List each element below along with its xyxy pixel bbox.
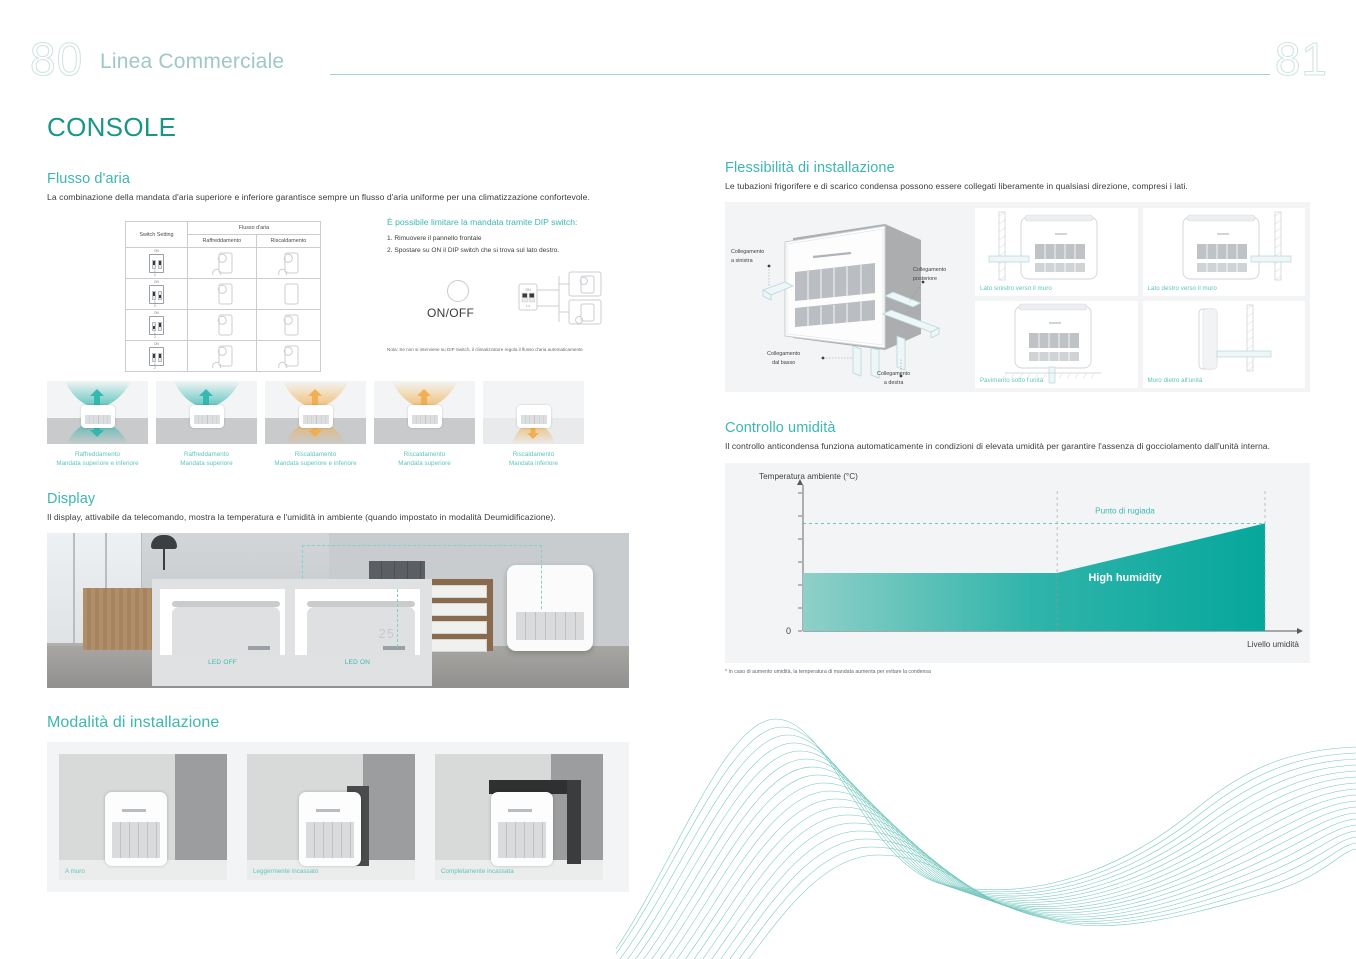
th-cooling: Raffreddamento	[187, 235, 256, 248]
install-mode-image: Leggermente incassato	[247, 754, 415, 880]
cool-cell	[187, 341, 256, 372]
connection-label-right: Collegamento a destra	[877, 370, 910, 386]
airflow-top-icon	[209, 313, 235, 337]
airflow-card-detail: Mandata inferiore	[483, 460, 584, 469]
th-airflow-group: Flusso d'aria	[187, 222, 320, 235]
connection-label-right-line1: Collegamento	[877, 371, 910, 377]
unit-illustration	[190, 405, 224, 428]
flexibility-card-label: Muro dietro all'unità	[1148, 377, 1203, 384]
heat-cell	[256, 310, 320, 341]
airflow-card: Raffreddamento Mandata superiore	[156, 381, 257, 469]
cool-cell	[187, 248, 256, 279]
connection-label-bottom: Collegamento dal basso	[767, 350, 800, 366]
flexibility-card-label: Pavimento sotto l'unità	[980, 377, 1043, 384]
dip-cell: ON 1 2	[126, 341, 188, 372]
table-row: ON 1 2	[126, 310, 321, 341]
unit-illustration	[517, 405, 551, 428]
humidity-chart-panel: Temperatura ambiente (°C)0Livello umidit…	[725, 463, 1310, 663]
dip-cell: ON 1 2	[126, 279, 188, 310]
svg-text:High humidity: High humidity	[1088, 572, 1162, 584]
page-number-left: 80	[30, 32, 83, 86]
dip-nums-label: 1 2	[150, 362, 163, 370]
section-body-humidity: Il controllo anticondensa funziona autom…	[725, 440, 1297, 452]
svg-text:Temperatura ambiente (°C): Temperatura ambiente (°C)	[759, 472, 858, 481]
onoff-diagram: ON/OFF ON 1 2	[387, 270, 627, 332]
airflow-top-icon	[275, 313, 301, 337]
section-body-display: Il display, attivabile da telecomando, m…	[47, 511, 627, 523]
install-mode-label: Leggermente incassato	[253, 868, 318, 875]
humidity-chart-footnote: * In caso di aumento umidità, la tempera…	[725, 669, 1310, 677]
heat-cell	[256, 248, 320, 279]
flexibility-card: Muro dietro all'unità	[1143, 301, 1306, 389]
airflow-table-block: Switch Setting Flusso d'aria Raffreddame…	[47, 217, 632, 367]
onoff-circle-icon	[447, 280, 469, 302]
airflow-card-list: Raffreddamento Mandata superiore e infer…	[47, 381, 632, 469]
page-number-right: 81	[1275, 32, 1328, 86]
led-value: 25	[379, 626, 395, 641]
airflow-card-mode: Riscaldamento	[265, 451, 366, 460]
airflow-card: Riscaldamento Mandata superiore e inferi…	[265, 381, 366, 469]
airflow-top-icon	[209, 282, 235, 306]
flexibility-diagram-panel: Collegamento a sinistra Collegamento pos…	[725, 202, 1310, 392]
airflow-card: Riscaldamento Mandata superiore	[374, 381, 475, 469]
unit-illustration	[81, 405, 115, 428]
airflow-both-icon	[209, 344, 235, 368]
install-mode-label: Completamente incassata	[441, 868, 514, 875]
install-mode-card: A muro	[59, 754, 227, 880]
switch-setting-table: Switch Setting Flusso d'aria Raffreddame…	[125, 221, 321, 372]
humidity-chart: Temperatura ambiente (°C)0Livello umidit…	[725, 463, 1310, 663]
dip-on-label: ON	[150, 342, 163, 346]
airflow-card-mode: Riscaldamento	[483, 451, 584, 460]
page-header: 80 Linea Commerciale 81	[0, 18, 1356, 78]
dip-switch-icon: ON 1 2	[149, 347, 164, 366]
header-rule	[330, 74, 1270, 75]
led-off-image	[160, 589, 285, 655]
table-row: ON 1 2	[126, 248, 321, 279]
connection-label-bottom-line1: Collegamento	[767, 351, 800, 357]
airflow-card-image	[374, 381, 475, 444]
unit-illustration	[299, 405, 333, 428]
section-heading-humidity: Controllo umidità	[725, 420, 1310, 436]
th-switch-setting: Switch Setting	[126, 222, 188, 248]
display-comparison-panel: LED OFF 25 LED ON	[152, 579, 432, 686]
dip-note-text: Nota: Se non si interviene su DIP Switch…	[387, 346, 627, 354]
dip-on-label: ON	[150, 311, 163, 315]
connection-label-left: Collegamento a sinistra	[731, 248, 764, 264]
airflow-card-mode: Raffreddamento	[156, 451, 257, 460]
display-photo: LED OFF 25 LED ON	[47, 533, 629, 688]
connection-label-bottom-line2: dal basso	[772, 360, 795, 366]
connection-label-back-line2: posteriore	[913, 276, 937, 282]
dip-instructions-title: È possibile limitare la mandata tramite …	[387, 217, 627, 227]
install-mode-card: Leggermente incassato	[247, 754, 415, 880]
section-heading-airflow: Flusso d'aria	[47, 171, 632, 187]
cool-cell	[187, 310, 256, 341]
airflow-card-detail: Mandata superiore e inferiore	[265, 460, 366, 469]
svg-text:ON: ON	[525, 288, 531, 292]
flexibility-card: Pavimento sotto l'unità	[975, 301, 1138, 389]
callout-dashed-vertical	[397, 589, 398, 647]
catalog-page: 80 Linea Commerciale 81 CONSOLE Flusso d…	[0, 0, 1356, 959]
section-heading-install: Modalità di installazione	[47, 714, 632, 732]
onoff-label: ON/OFF	[427, 306, 474, 320]
svg-text:Punto di rugiada: Punto di rugiada	[1095, 506, 1155, 515]
led-on-image: 25	[295, 589, 420, 655]
decorative-wave-graphic	[616, 659, 1356, 959]
flexibility-card: Lato sinistro verso il muro	[975, 208, 1138, 296]
dip-switch-icon: ON 1 2	[149, 316, 164, 335]
dip-step-1: 1. Rimuovere il pannello frontale	[387, 233, 627, 244]
airflow-both-icon	[275, 344, 301, 368]
dip-cell: ON 1 2	[126, 248, 188, 279]
airflow-card: Riscaldamento Mandata inferiore	[483, 381, 584, 469]
section-body-flexibility: Le tubazioni frigorifere e di scarico co…	[725, 180, 1305, 192]
led-off-label: LED OFF	[160, 659, 285, 666]
led-on-label: LED ON	[295, 659, 420, 666]
onoff-schematic: ON 1 2	[497, 270, 617, 328]
airflow-card-image	[483, 381, 584, 444]
flexibility-card-grid: Lato sinistro verso il muro	[975, 208, 1305, 388]
airflow-card-image	[156, 381, 257, 444]
airflow-card-detail: Mandata superiore	[374, 460, 475, 469]
connection-label-back-line1: Collegamento	[913, 267, 946, 273]
install-mode-image: Completamente incassata	[435, 754, 603, 880]
airflow-card: Raffreddamento Mandata superiore e infer…	[47, 381, 148, 469]
dip-nums-label: 1 2	[150, 331, 163, 339]
install-mode-card: Completamente incassata	[435, 754, 603, 880]
flexibility-card-label: Lato destro verso il muro	[1148, 285, 1217, 292]
dip-switch-icon: ON 1 2	[149, 254, 164, 273]
airflow-card-detail: Mandata superiore e inferiore	[47, 460, 148, 469]
dip-nums-label: 1 2	[150, 269, 163, 277]
dip-nums-label: 1 2	[150, 300, 163, 308]
header-title: Linea Commerciale	[100, 50, 284, 74]
section-heading-flexibility: Flessibilità di installazione	[725, 160, 1310, 176]
desk-lamp	[151, 535, 177, 549]
section-heading-display: Display	[47, 491, 632, 507]
install-mode-list: A muro Leggermente incassato	[47, 742, 629, 892]
flexibility-card: Lato destro verso il muro	[1143, 208, 1306, 296]
unit-illustration	[408, 405, 442, 428]
airflow-both-icon	[209, 251, 235, 275]
airflow-none-icon	[275, 282, 301, 306]
section-body-airflow: La combinazione della mandata d'aria sup…	[47, 191, 627, 203]
connection-label-right-line2: a destra	[884, 380, 903, 386]
airflow-card-image	[265, 381, 366, 444]
dip-switch-icon: ON 1 2	[149, 285, 164, 304]
th-heating: Riscaldamento	[256, 235, 320, 248]
heat-cell	[256, 341, 320, 372]
airflow-card-image	[47, 381, 148, 444]
table-row: ON 1 2	[126, 341, 321, 372]
connection-label-left-line2: a sinistra	[731, 258, 753, 264]
airflow-card-mode: Raffreddamento	[47, 451, 148, 460]
dip-step-2: 2. Spostare su ON il DIP switch che si t…	[387, 245, 627, 256]
flexibility-card-label: Lato sinistro verso il muro	[980, 285, 1052, 292]
left-column: CONSOLE Flusso d'aria La combinazione de…	[47, 112, 632, 892]
connection-diagram: Collegamento a sinistra Collegamento pos…	[735, 210, 970, 385]
airflow-card-detail: Mandata superiore	[156, 460, 257, 469]
table-row: ON 1 2	[126, 279, 321, 310]
svg-text:0: 0	[786, 626, 791, 636]
cool-cell	[187, 279, 256, 310]
svg-text:Livello umidità: Livello umidità	[1247, 640, 1299, 649]
dip-on-label: ON	[150, 249, 163, 253]
connection-label-left-line1: Collegamento	[731, 249, 764, 255]
install-mode-image: A muro	[59, 754, 227, 880]
dip-cell: ON 1 2	[126, 310, 188, 341]
connection-label-back: Collegamento posteriore	[913, 266, 946, 282]
airflow-both-icon	[275, 251, 301, 275]
airflow-card-mode: Riscaldamento	[374, 451, 475, 460]
heat-cell	[256, 279, 320, 310]
dip-on-label: ON	[150, 280, 163, 284]
install-mode-label: A muro	[65, 868, 85, 875]
svg-text:1 2: 1 2	[526, 304, 531, 308]
dip-instructions: È possibile limitare la mandata tramite …	[387, 217, 627, 353]
right-column: Flessibilità di installazione Le tubazio…	[725, 160, 1310, 677]
page-title: CONSOLE	[47, 112, 632, 143]
